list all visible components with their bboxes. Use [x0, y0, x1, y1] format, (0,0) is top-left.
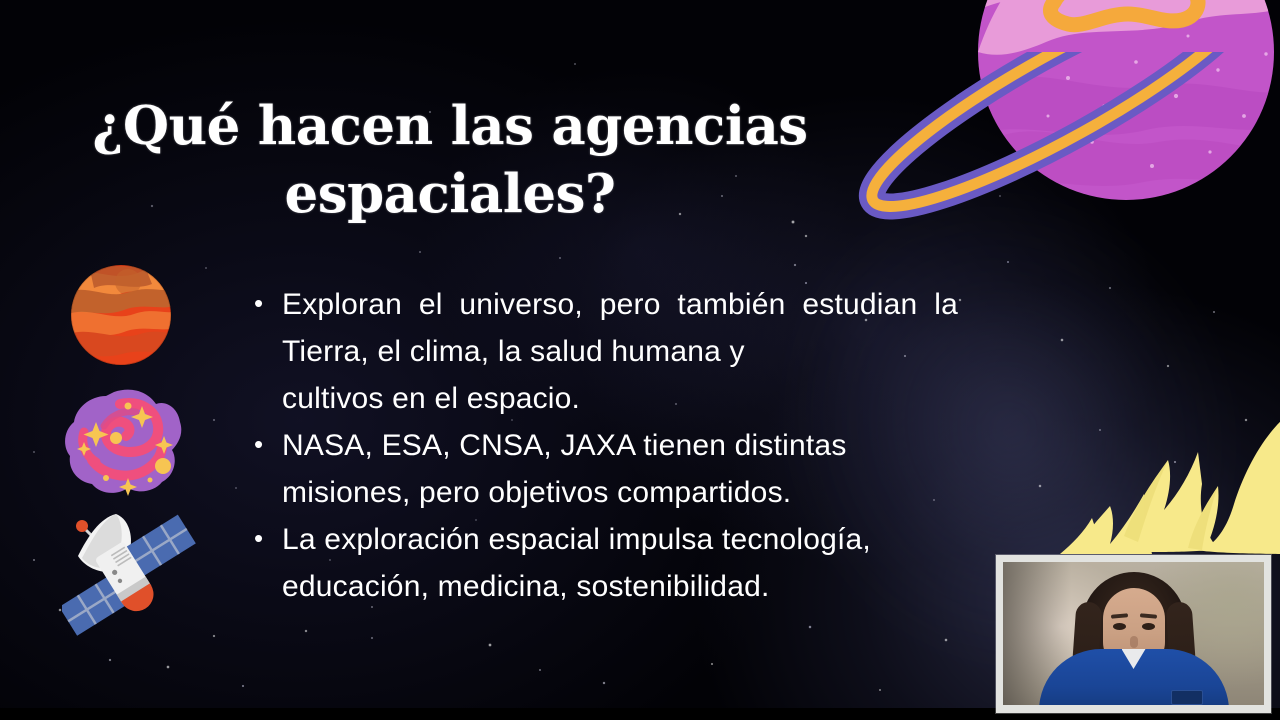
- bullet-last-line: educación, medicina, sostenibilidad.: [282, 563, 958, 610]
- title-line-1: ¿Qué hacen las agencias: [92, 95, 807, 157]
- flame-icon: [1048, 412, 1280, 572]
- list-item: NASA, ESA, CNSA, JAXA tienen distintas m…: [252, 422, 958, 516]
- bullet-text: Exploran el universo, pero también estud…: [282, 288, 958, 368]
- list-item: Exploran el universo, pero también estud…: [252, 281, 958, 422]
- presenter-eye-left: [1113, 623, 1126, 630]
- slide-title: ¿Qué hacen las agencias espaciales?: [0, 92, 900, 228]
- bullet-last-line: cultivos en el espacio.: [282, 375, 958, 422]
- bullet-text: La exploración espacial impulsa tecnolog…: [282, 523, 871, 556]
- presenter-webcam[interactable]: [996, 555, 1271, 713]
- presenter-eyebrow-left: [1110, 613, 1127, 618]
- title-line-2: espaciales?: [0, 160, 900, 228]
- webcam-video: [1003, 562, 1264, 705]
- saturn-planet-icon: [836, 0, 1280, 226]
- presenter-eye-right: [1142, 623, 1155, 630]
- presenter-badge: [1171, 690, 1203, 705]
- galaxy-nebula-icon: [62, 386, 188, 498]
- list-item: La exploración espacial impulsa tecnolog…: [252, 516, 958, 610]
- bullet-list: Exploran el universo, pero también estud…: [252, 281, 958, 610]
- presenter-nose: [1130, 636, 1138, 648]
- presenter-eyebrow-right: [1139, 613, 1156, 618]
- bullet-text: NASA, ESA, CNSA, JAXA tienen distintas: [282, 429, 847, 462]
- presenter-collar: [1122, 649, 1146, 669]
- satellite-icon: [62, 506, 196, 636]
- bullet-last-line: misiones, pero objetivos compartidos.: [282, 469, 958, 516]
- presentation-slide: ¿Qué hacen las agencias espaciales?: [0, 0, 1280, 720]
- mars-planet-icon: [68, 262, 174, 368]
